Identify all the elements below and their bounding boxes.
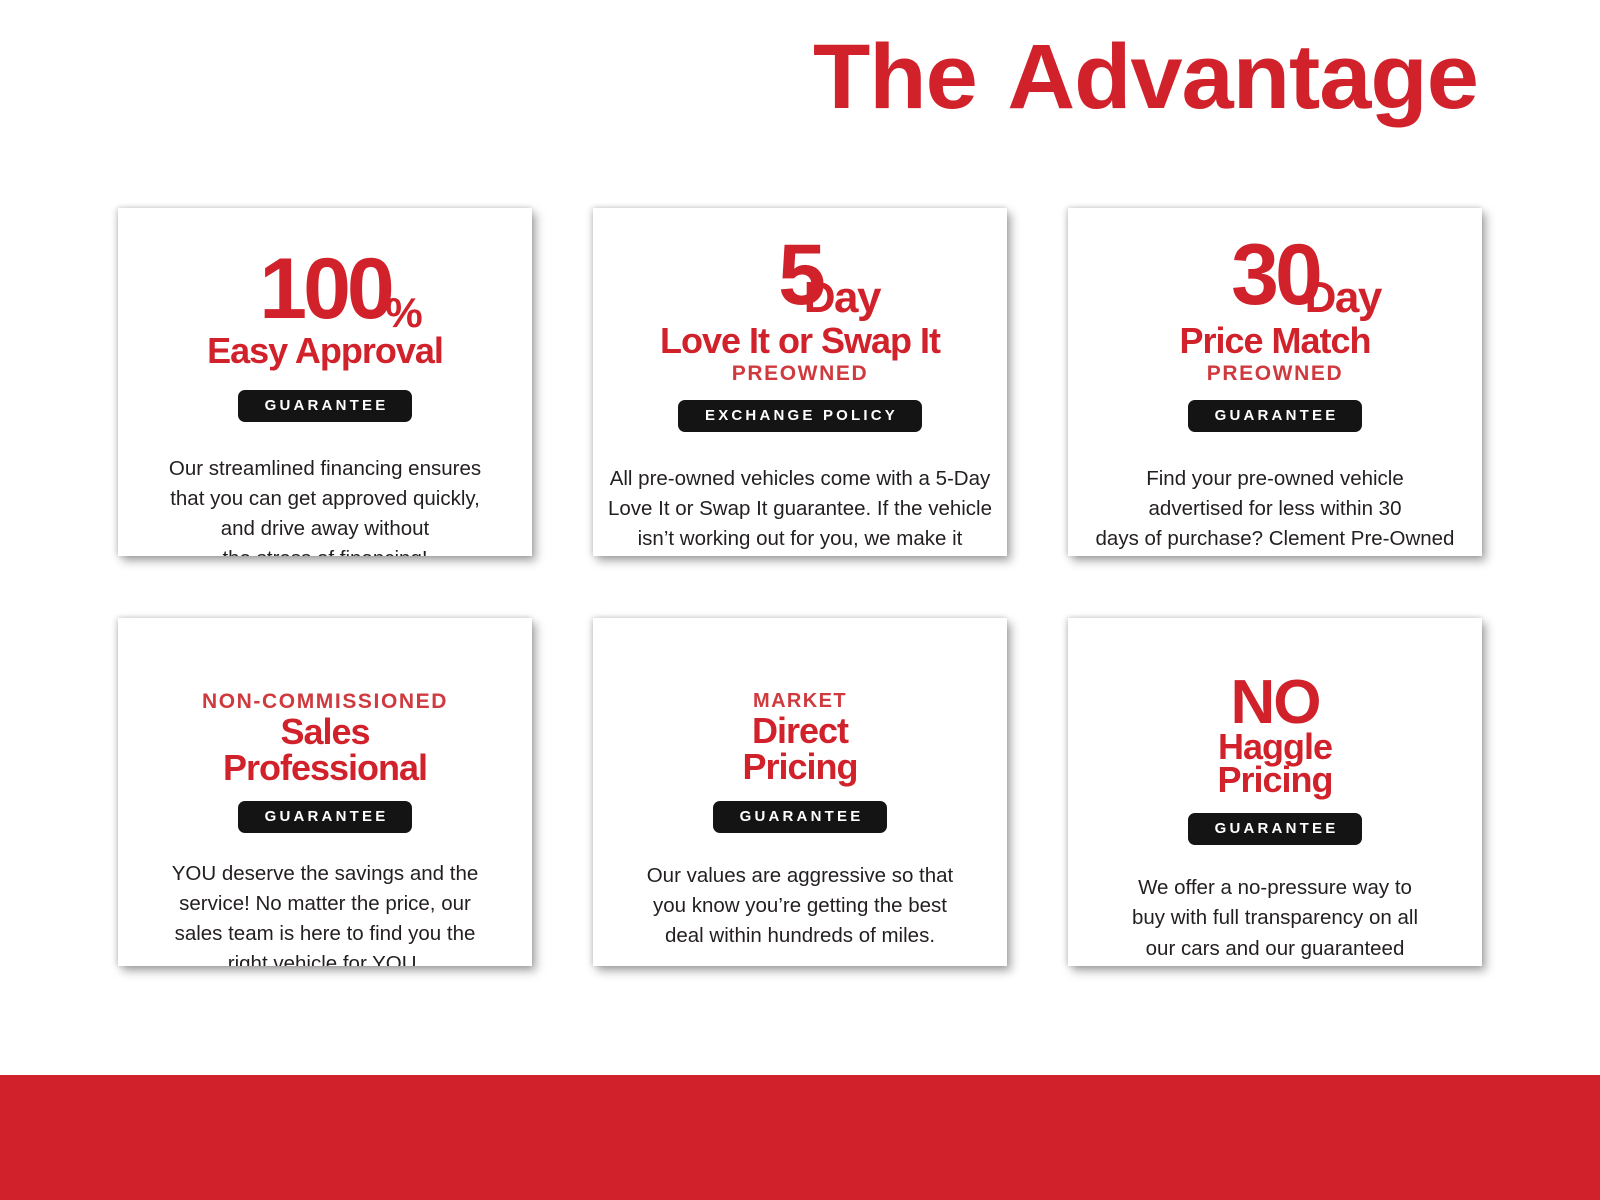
card-description: Our values are aggressive so that you kn… [647,861,954,951]
card-easy-approval[interactable]: 100 % Easy Approval GUARANTEE Our stream… [118,208,532,556]
big-number-wrap: 100 % [259,250,391,329]
card-headline: Love It or Swap It [660,323,940,360]
card-row-bottom: NON-COMMISSIONED Sales Professional GUAR… [118,618,1483,966]
card-description: Our streamlined financing ensures that y… [169,454,481,556]
logo-block-love-it-or-swap-it: 5 Day Love It or Swap It PREOWNED [605,236,995,386]
card-kicker: PREOWNED [1207,362,1343,386]
card-price-match[interactable]: 30 Day Price Match PREOWNED GUARANTEE Fi… [1068,208,1482,556]
card-headline-line-2: Pricing [1217,763,1332,798]
big-number-wrap: 30 Day [1231,236,1319,315]
status-badge: GUARANTEE [1188,813,1363,845]
card-no-haggle-pricing[interactable]: NO Haggle Pricing GUARANTEE We offer a n… [1068,618,1482,966]
card-headline-line-1: Direct [752,714,848,749]
card-kicker: PREOWNED [732,362,868,386]
card-description: All pre-owned vehicles come with a 5-Day… [608,464,992,556]
big-number: NO [1231,674,1320,732]
card-sales-professional[interactable]: NON-COMMISSIONED Sales Professional GUAR… [118,618,532,966]
card-row-top: 100 % Easy Approval GUARANTEE Our stream… [118,208,1483,556]
page-title-word-advantage: Advantage [1007,26,1478,128]
percent-symbol: % [385,294,420,333]
card-headline: Price Match [1179,323,1370,360]
day-label: Day [1305,278,1381,318]
card-headline: Easy Approval [207,333,443,370]
logo-block-easy-approval: 100 % Easy Approval [130,250,520,370]
page-title: TheAdvantage [813,28,1478,127]
logo-block-no-haggle-pricing: NO Haggle Pricing [1080,674,1470,797]
advantage-cards-grid: 100 % Easy Approval GUARANTEE Our stream… [118,208,1483,966]
footer-accent-bar [0,1075,1600,1200]
logo-block-market-direct-pricing: MARKET Direct Pricing [605,690,995,784]
card-headline-line-2: Pricing [742,750,857,785]
card-headline-line-1: Sales [280,715,369,750]
page-header: TheAdvantage [0,0,1600,150]
status-badge: GUARANTEE [238,390,413,422]
logo-block-price-match: 30 Day Price Match PREOWNED [1080,236,1470,386]
big-number: 100 [259,250,391,329]
card-headline-line-2: Professional [223,751,427,786]
status-badge: GUARANTEE [1188,400,1363,432]
status-badge: GUARANTEE [238,801,413,833]
day-label: Day [804,278,880,318]
card-description: We offer a no-pressure way to buy with f… [1132,873,1418,966]
card-description: YOU deserve the savings and the service!… [172,859,479,966]
status-badge: EXCHANGE POLICY [678,400,922,432]
card-description: Find your pre-owned vehicle advertised f… [1096,464,1455,556]
status-badge: GUARANTEE [713,801,888,833]
big-number-wrap: 5 Day [778,236,822,315]
card-love-it-or-swap-it[interactable]: 5 Day Love It or Swap It PREOWNED EXCHAN… [593,208,1007,556]
logo-block-sales-professional: NON-COMMISSIONED Sales Professional [130,690,520,785]
card-market-direct-pricing[interactable]: MARKET Direct Pricing GUARANTEE Our valu… [593,618,1007,966]
page-title-word-the: The [813,26,977,128]
